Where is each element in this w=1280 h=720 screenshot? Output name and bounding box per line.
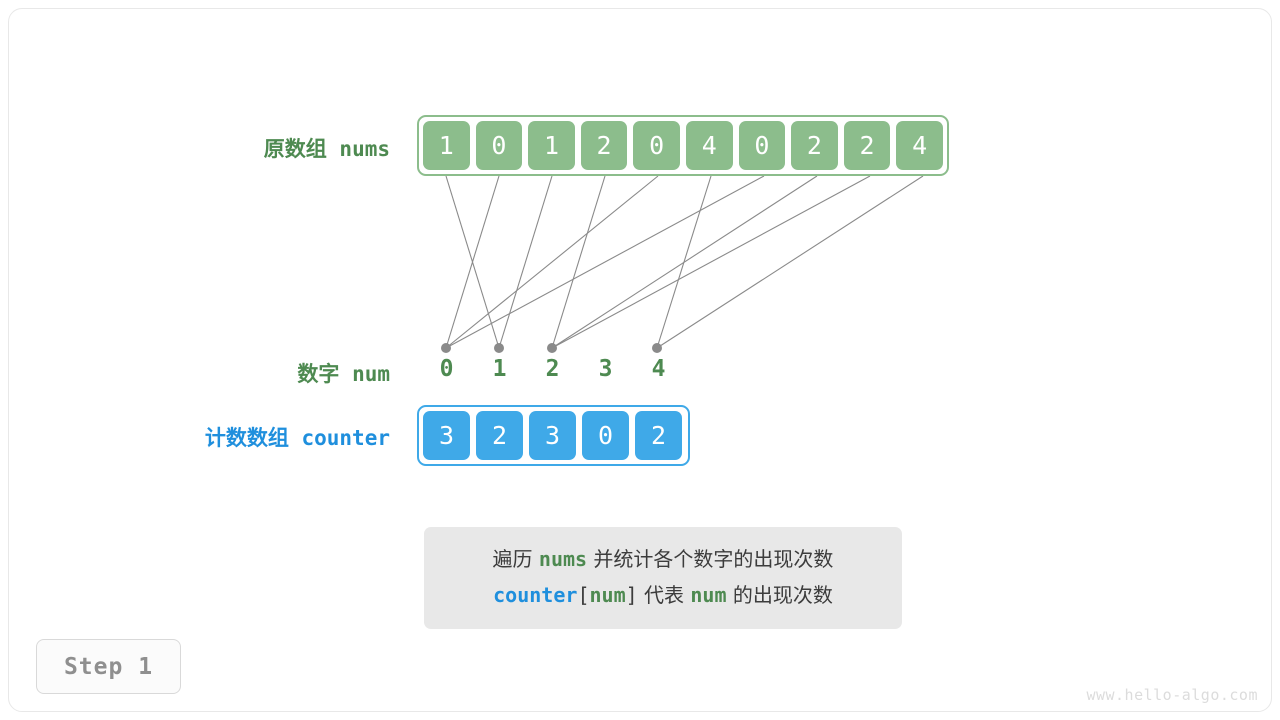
caption-l2-text-1: 代表 [638, 583, 691, 607]
caption-l1-keyword-nums: nums [539, 547, 587, 571]
nums-cell: 2 [844, 121, 891, 170]
counter-cell: 0 [582, 411, 629, 460]
nums-cell: 4 [686, 121, 733, 170]
caption-l2-keyword-num-2: num [690, 583, 726, 607]
counter-cell: 2 [635, 411, 682, 460]
counter-array: 32302 [417, 405, 690, 466]
step-badge: Step 1 [36, 639, 181, 694]
diagram-canvas: 原数组 nums 1012040224 数字 num 01234 计数数组 co… [0, 0, 1280, 720]
counter-cells: 32302 [423, 411, 684, 460]
nums-cell: 0 [633, 121, 680, 170]
nums-cell: 4 [896, 121, 943, 170]
nums-cell: 2 [581, 121, 628, 170]
counter-cell: 2 [476, 411, 523, 460]
num-axis-digit: 0 [423, 356, 470, 382]
caption-l2-text-2: 的出现次数 [727, 583, 833, 607]
nums-cell: 0 [476, 121, 523, 170]
watermark: www.hello-algo.com [1086, 686, 1258, 704]
counter-cell: 3 [529, 411, 576, 460]
caption-l2-bracket-close: ] [626, 583, 638, 607]
num-axis-label: 数字 num [120, 358, 390, 388]
nums-cell: 2 [791, 121, 838, 170]
nums-cells: 1012040224 [423, 121, 943, 170]
caption-box: 遍历 nums 并统计各个数字的出现次数 counter[num] 代表 num… [424, 527, 902, 629]
caption-l2-keyword-counter: counter [493, 583, 577, 607]
nums-array: 1012040224 [417, 115, 949, 176]
num-axis-digit: 3 [582, 356, 629, 382]
num-axis-digit: 1 [476, 356, 523, 382]
caption-l1-text-2: 并统计各个数字的出现次数 [587, 547, 833, 571]
num-axis-digit: 4 [635, 356, 682, 382]
counter-cell: 3 [423, 411, 470, 460]
nums-row-label: 原数组 nums [120, 133, 390, 163]
num-axis-digit: 2 [529, 356, 576, 382]
nums-cell: 1 [423, 121, 470, 170]
caption-line-1: 遍历 nums 并统计各个数字的出现次数 [424, 541, 902, 577]
nums-cell: 0 [739, 121, 786, 170]
caption-l1-text-1: 遍历 [493, 547, 539, 571]
caption-l2-bracket-open: [ [577, 583, 589, 607]
caption-l2-keyword-num-1: num [589, 583, 625, 607]
num-axis: 01234 [417, 356, 690, 388]
caption-line-2: counter[num] 代表 num 的出现次数 [424, 577, 902, 613]
nums-cell: 1 [528, 121, 575, 170]
counter-row-label: 计数数组 counter [100, 422, 390, 452]
